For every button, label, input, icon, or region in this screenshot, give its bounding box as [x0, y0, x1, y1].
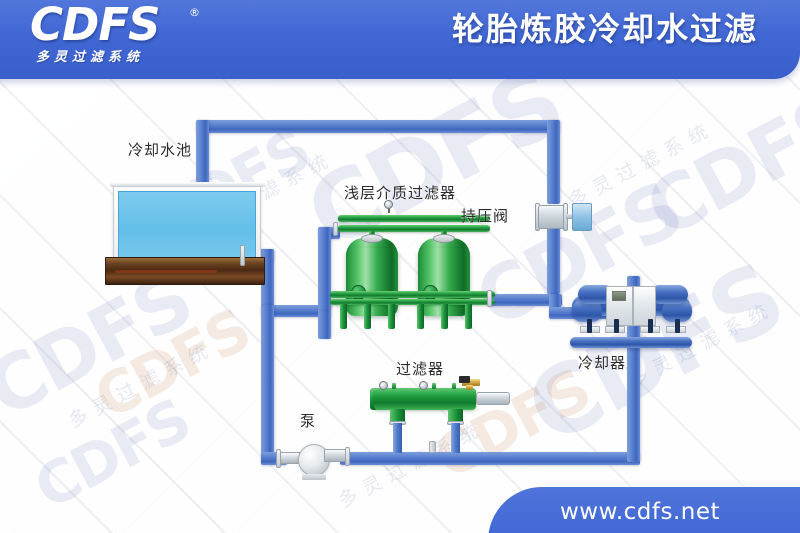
cooler-foot	[587, 319, 592, 333]
media-filter-leg	[417, 304, 424, 329]
cooler-foot	[614, 319, 619, 333]
cooler-display-screen	[612, 291, 626, 301]
media-filter-upper-manifold-bottom	[338, 225, 490, 232]
filter-body	[374, 388, 476, 410]
pump-suction-spool	[279, 452, 300, 464]
website-url[interactable]: www.cdfs.net	[560, 499, 720, 525]
tank-a-manhole	[361, 234, 383, 243]
pipe-valve-riser	[547, 120, 560, 204]
cabinet-door-seam	[632, 287, 634, 325]
label-media-filter: 浅层介质过滤器	[344, 182, 456, 203]
filter-downleg	[451, 423, 460, 453]
pipe-left-trunk	[261, 305, 274, 460]
cooler-base-beam	[570, 337, 692, 348]
media-filter-leg	[465, 304, 472, 329]
pump-suction-flange	[276, 449, 281, 468]
media-filter-lower-manifold-top	[330, 291, 495, 298]
logo-subtitle: 多灵过滤系统	[36, 46, 144, 65]
pump-baseplate	[302, 474, 326, 480]
page-footer: www.cdfs.net	[488, 487, 800, 533]
tank-b-manhole	[433, 234, 455, 243]
filter-outlet-tube	[476, 392, 510, 405]
pipe-media-filter-inlet-riser	[318, 227, 331, 309]
pump-discharge-flange	[345, 447, 350, 466]
label-pressure-valve: 持压阀	[461, 205, 509, 226]
media-filter-leg	[388, 304, 395, 329]
label-pump: 泵	[300, 410, 316, 431]
logo[interactable]: CDFS ® 多灵过滤系统	[30, 2, 210, 56]
pipe-bottom-header	[340, 452, 640, 465]
media-filter-leg	[340, 304, 347, 329]
media-filter-leg	[441, 304, 448, 329]
label-cooler: 冷却器	[578, 352, 626, 373]
pipe-top-header	[196, 120, 560, 133]
page-header: CDFS ® 多灵过滤系统 轮胎炼胶冷却水过滤	[0, 0, 800, 79]
media-filter-inlet-flange	[333, 222, 338, 236]
label-cooling-pool: 冷却水池	[128, 139, 192, 160]
logo-text: CDFS	[30, 2, 210, 48]
media-filter-outlet-flange	[487, 290, 492, 307]
media-filter-leg	[364, 304, 371, 329]
filter-gauge-icon	[379, 381, 388, 390]
cooler-foot	[675, 319, 680, 333]
registered-mark-icon: ®	[189, 6, 200, 19]
filter-actuator-cap	[459, 376, 470, 383]
valve-actuator	[572, 203, 592, 231]
filter-gauge-icon	[419, 381, 428, 390]
filter-brass-stem	[466, 385, 473, 390]
pipe-crossover-drop	[318, 305, 331, 339]
page-title: 轮胎炼胶冷却水过滤	[452, 4, 758, 50]
filter-nozzle	[392, 383, 396, 389]
cooler-foot	[648, 319, 653, 333]
label-filter: 过滤器	[396, 358, 444, 379]
filter-downleg	[393, 423, 402, 453]
pipe-valve-downcomer	[547, 226, 560, 294]
pressure-sustaining-valve-body	[538, 205, 566, 229]
filter-nozzle	[452, 383, 456, 389]
filter-drain-drip	[429, 441, 436, 453]
pipe-cooler-return-riser	[627, 344, 640, 462]
flow-diagram-page: CDFS CDFS CDFS CDFS CDFS CDFS CDFS CDFS …	[0, 0, 800, 533]
pool-outlet-flange	[240, 245, 245, 266]
filter-nozzle	[432, 383, 436, 389]
